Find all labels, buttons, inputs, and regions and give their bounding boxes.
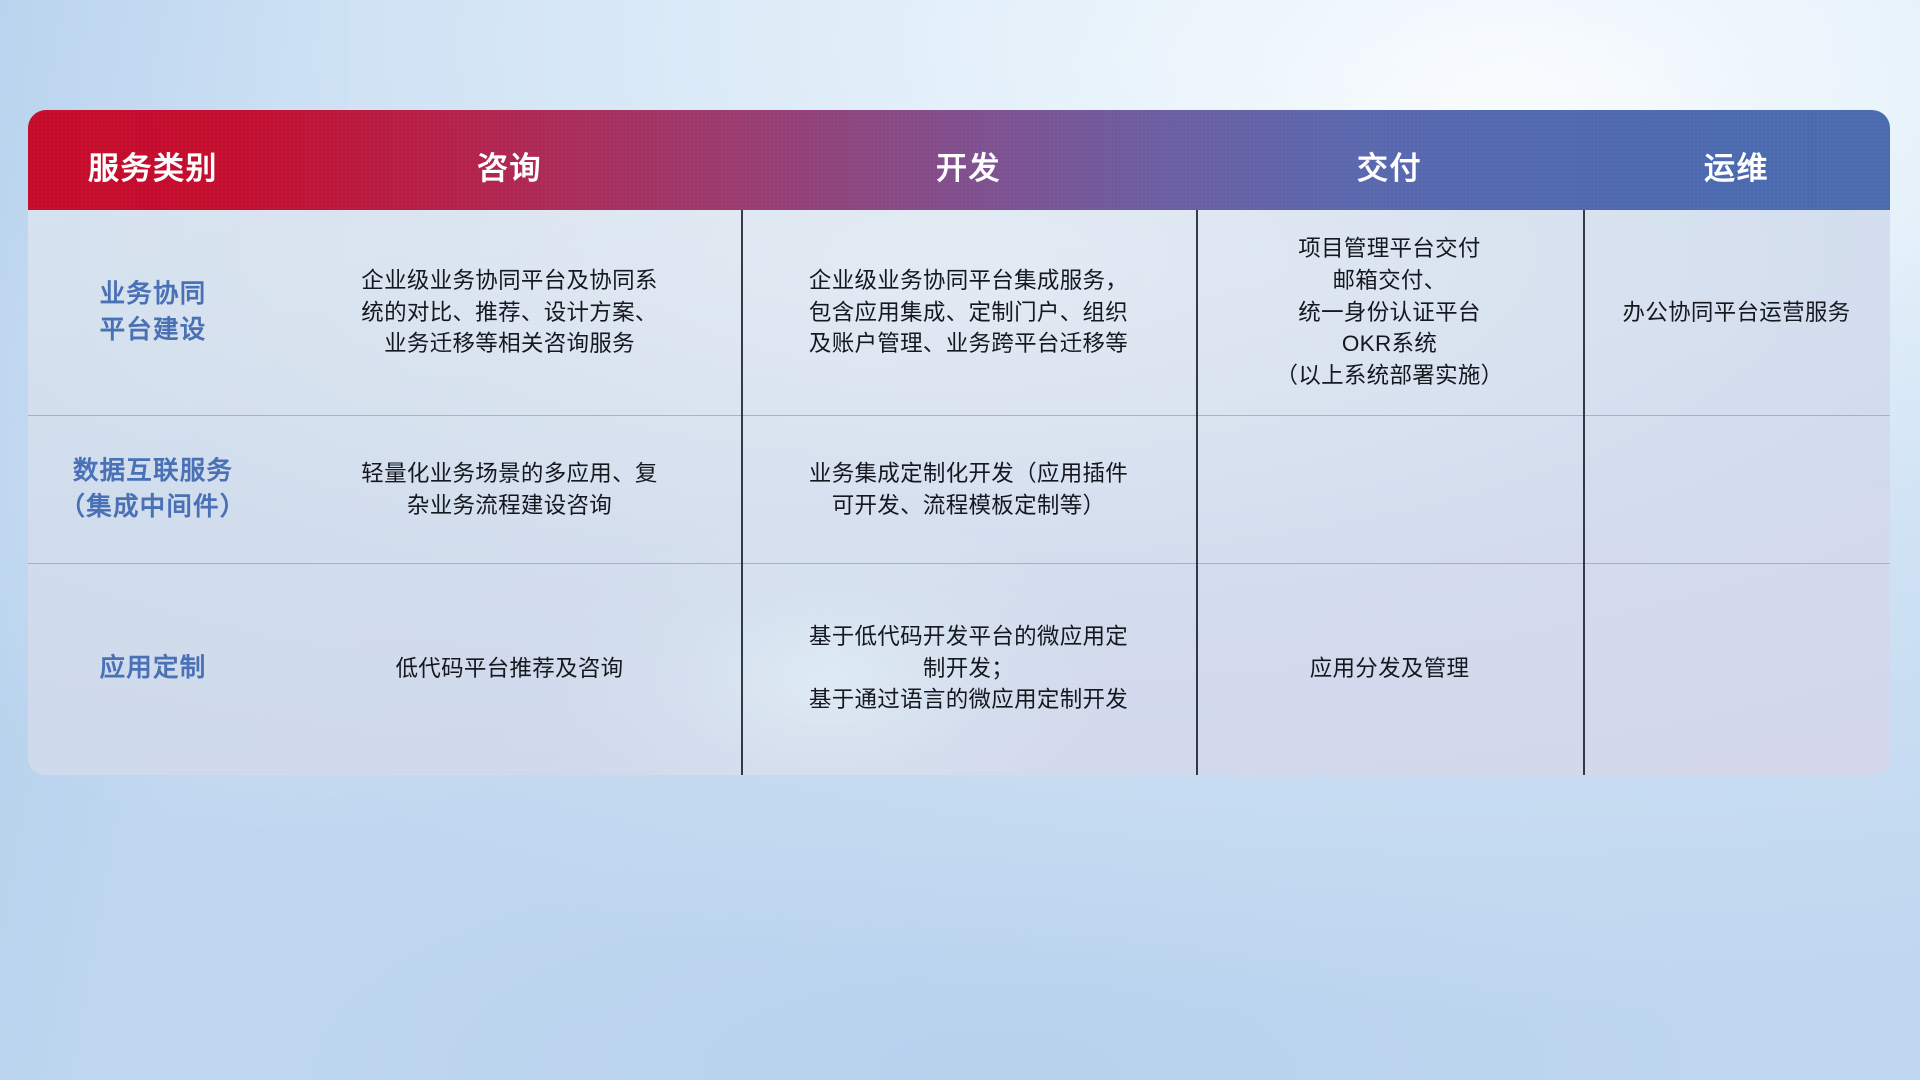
- column-header-consulting: 咨询: [278, 143, 741, 210]
- column-divider-2: [1196, 210, 1198, 775]
- row-label-app-customization: 应用定制: [28, 645, 278, 692]
- cell-row2-consulting: 低代码平台推荐及咨询: [278, 647, 741, 691]
- column-header-development: 开发: [741, 143, 1196, 210]
- cell-row0-development: 企业级业务协同平台集成服务， 包含应用集成、定制门户、组织 及账户管理、业务跨平…: [741, 259, 1196, 367]
- cell-row2-development: 基于低代码开发平台的微应用定 制开发； 基于通过语言的微应用定制开发: [741, 615, 1196, 723]
- column-divider-1: [741, 210, 743, 775]
- row-label-business-collaboration: 业务协同 平台建设: [28, 271, 278, 353]
- background-glow-bottom: [230, 821, 1766, 1080]
- cell-row1-development: 业务集成定制化开发（应用插件 可开发、流程模板定制等）: [741, 452, 1196, 528]
- cell-row2-delivery: 应用分发及管理: [1196, 647, 1583, 691]
- cell-row0-delivery: 项目管理平台交付 邮箱交付、 统一身份认证平台 OKR系统 （以上系统部署实施）: [1196, 227, 1583, 399]
- cell-row1-delivery: [1196, 484, 1583, 496]
- cell-row2-operations: [1583, 663, 1890, 675]
- row-label-data-interconnect: 数据互联服务 （集成中间件）: [28, 448, 278, 530]
- column-header-category: 服务类别: [28, 143, 278, 210]
- column-divider-3: [1583, 210, 1585, 775]
- table-row: 数据互联服务 （集成中间件） 轻量化业务场景的多应用、复 杂业务流程建设咨询 业…: [28, 415, 1890, 563]
- table-body: 业务协同 平台建设 企业级业务协同平台及协同系 统的对比、推荐、设计方案、 业务…: [28, 210, 1890, 775]
- cell-row0-operations: 办公协同平台运营服务: [1583, 291, 1890, 335]
- service-matrix-table: 服务类别 咨询 开发 交付 运维 业务协同 平台建设 企业级业务协同平台及协同系…: [28, 110, 1890, 775]
- table-row: 业务协同 平台建设 企业级业务协同平台及协同系 统的对比、推荐、设计方案、 业务…: [28, 210, 1890, 415]
- table-header-row: 服务类别 咨询 开发 交付 运维: [28, 110, 1890, 210]
- cell-row1-operations: [1583, 484, 1890, 496]
- cell-row0-consulting: 企业级业务协同平台及协同系 统的对比、推荐、设计方案、 业务迁移等相关咨询服务: [278, 259, 741, 367]
- table-row: 应用定制 低代码平台推荐及咨询 基于低代码开发平台的微应用定 制开发； 基于通过…: [28, 563, 1890, 773]
- cell-row1-consulting: 轻量化业务场景的多应用、复 杂业务流程建设咨询: [278, 452, 741, 528]
- column-header-delivery: 交付: [1196, 143, 1583, 210]
- column-header-operations: 运维: [1583, 143, 1890, 210]
